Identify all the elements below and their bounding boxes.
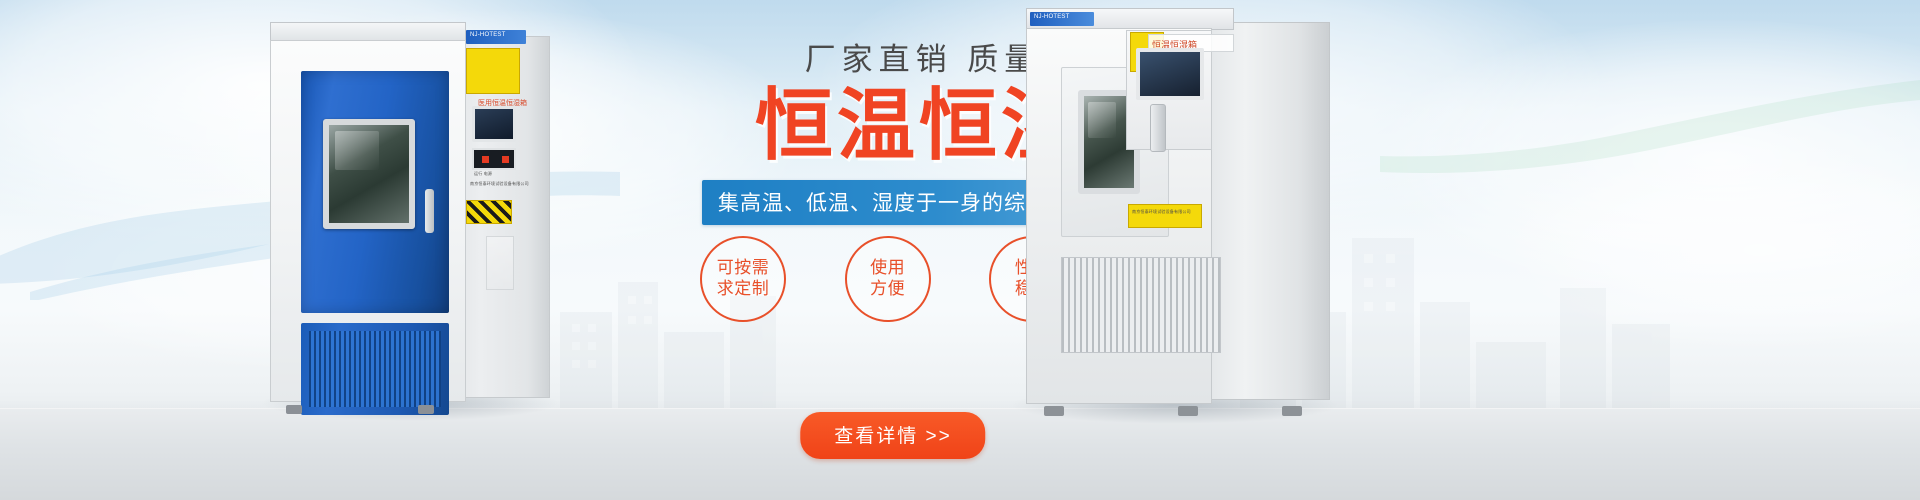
- chamber-side-panel: [1208, 22, 1330, 400]
- cloud-decoration: [1500, 150, 1920, 350]
- chamber-caster-foot: [286, 405, 302, 414]
- door-handle: [425, 189, 434, 233]
- company-text: 南京恒泰环境试验设备有限公司: [470, 182, 529, 186]
- view-details-button[interactable]: 查看详情 >>: [800, 412, 985, 459]
- chamber-top-panel: [270, 22, 466, 42]
- glass-reflection: [1088, 102, 1116, 139]
- ventilation-grille: [309, 331, 441, 407]
- product-image-right-chamber: NJ-HOTEST 恒温恒湿箱 南京恒泰环境试验设备有限公司: [1000, 8, 1330, 408]
- glass-reflection: [335, 131, 379, 170]
- chamber-caster-foot: [1178, 406, 1198, 416]
- feature-circle-custom[interactable]: 可按需 求定制: [700, 236, 786, 322]
- chamber-front-body: [270, 40, 466, 402]
- company-text: 南京恒泰环境试验设备有限公司: [1132, 210, 1191, 214]
- keypad-labels: 运行 电源: [474, 172, 492, 176]
- product-image-left-chamber: NJ-HOTEST 医用恒温恒湿箱 运行 电源 南京恒泰环境试验设备有限公司: [250, 22, 550, 407]
- brand-logo-text: NJ-HOTEST: [1034, 14, 1069, 21]
- side-control-strip: [486, 236, 514, 290]
- controller-display: [1136, 48, 1204, 100]
- feature-line-2: 求定制: [717, 279, 770, 300]
- chamber-caster-foot: [1282, 406, 1302, 416]
- controller-keypad: [472, 148, 516, 170]
- indicator-light-power: [502, 156, 509, 163]
- chamber-caster-foot: [418, 405, 434, 414]
- chamber-door-blue: [301, 71, 449, 313]
- chamber-view-window: [323, 119, 415, 229]
- chamber-lower-panel: [301, 323, 449, 415]
- feature-circle-easy-use[interactable]: 使用 方便: [845, 236, 931, 322]
- feature-line-1: 可按需: [717, 258, 770, 279]
- feature-line-1: 使用: [870, 258, 905, 279]
- cloud-decoration: [1380, 20, 1920, 300]
- indicator-light-run: [482, 156, 489, 163]
- warning-sticker: [466, 48, 520, 94]
- promo-banner: NJ-HOTEST 医用恒温恒湿箱 运行 电源 南京恒泰环境试验设备有限公司 厂…: [0, 0, 1920, 500]
- controller-display: [472, 106, 516, 142]
- hazard-stripe-sticker: [466, 200, 512, 224]
- ventilation-grille: [1061, 257, 1221, 353]
- chamber-caster-foot: [1044, 406, 1064, 416]
- door-handle: [1150, 104, 1166, 152]
- green-swoosh-decoration: [1380, 60, 1920, 180]
- brand-logo-text: NJ-HOTEST: [470, 32, 505, 39]
- hazard-label: [1128, 204, 1202, 228]
- feature-line-2: 方便: [870, 279, 905, 300]
